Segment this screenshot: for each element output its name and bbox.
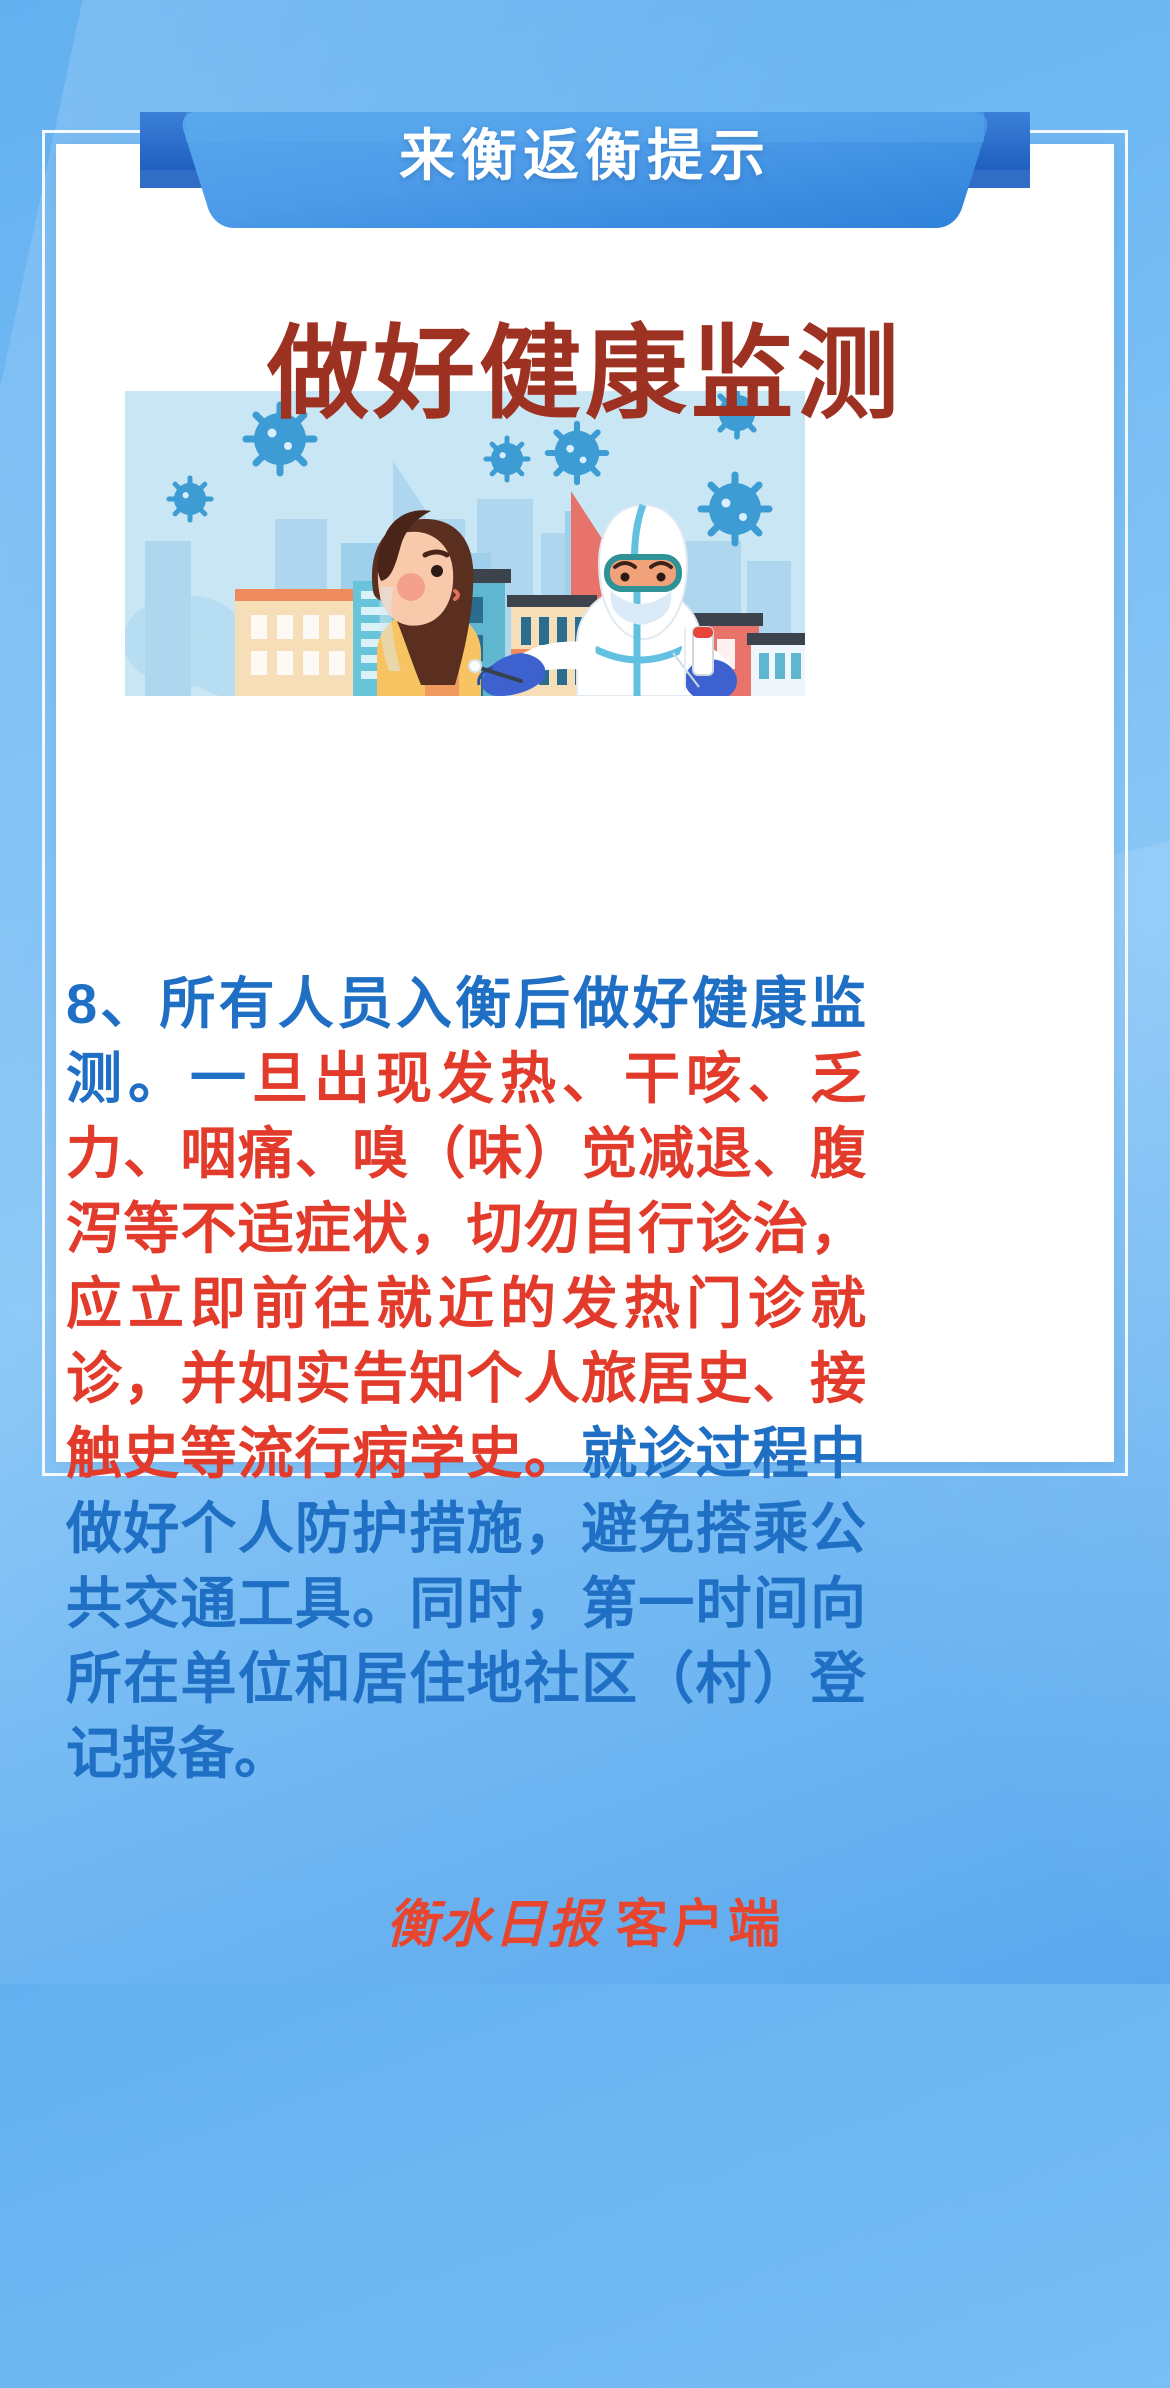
page-title: 做好健康监测 bbox=[0, 321, 1170, 428]
body-segment-red: 旦出现发热、干咳、乏力、咽痛、嗅（味）觉减退、腹泻等不适症状，切勿自行诊治，应立… bbox=[66, 1047, 866, 1485]
illustration-svg bbox=[125, 391, 805, 696]
footer-brand-name: 衡水日报 bbox=[386, 1897, 602, 1954]
body-paragraph: 8、所有人员入衡后做好健康监测。一旦出现发热、干咳、乏力、咽痛、嗅（味）觉减退、… bbox=[66, 966, 866, 1791]
illustration-nucleic-acid-test bbox=[125, 391, 805, 696]
ribbon-title: 来衡返衡提示 bbox=[0, 128, 1170, 184]
footer-app-name: 客户端 bbox=[616, 1896, 784, 1954]
footer: 衡水日报客户端 bbox=[0, 1882, 1170, 1957]
